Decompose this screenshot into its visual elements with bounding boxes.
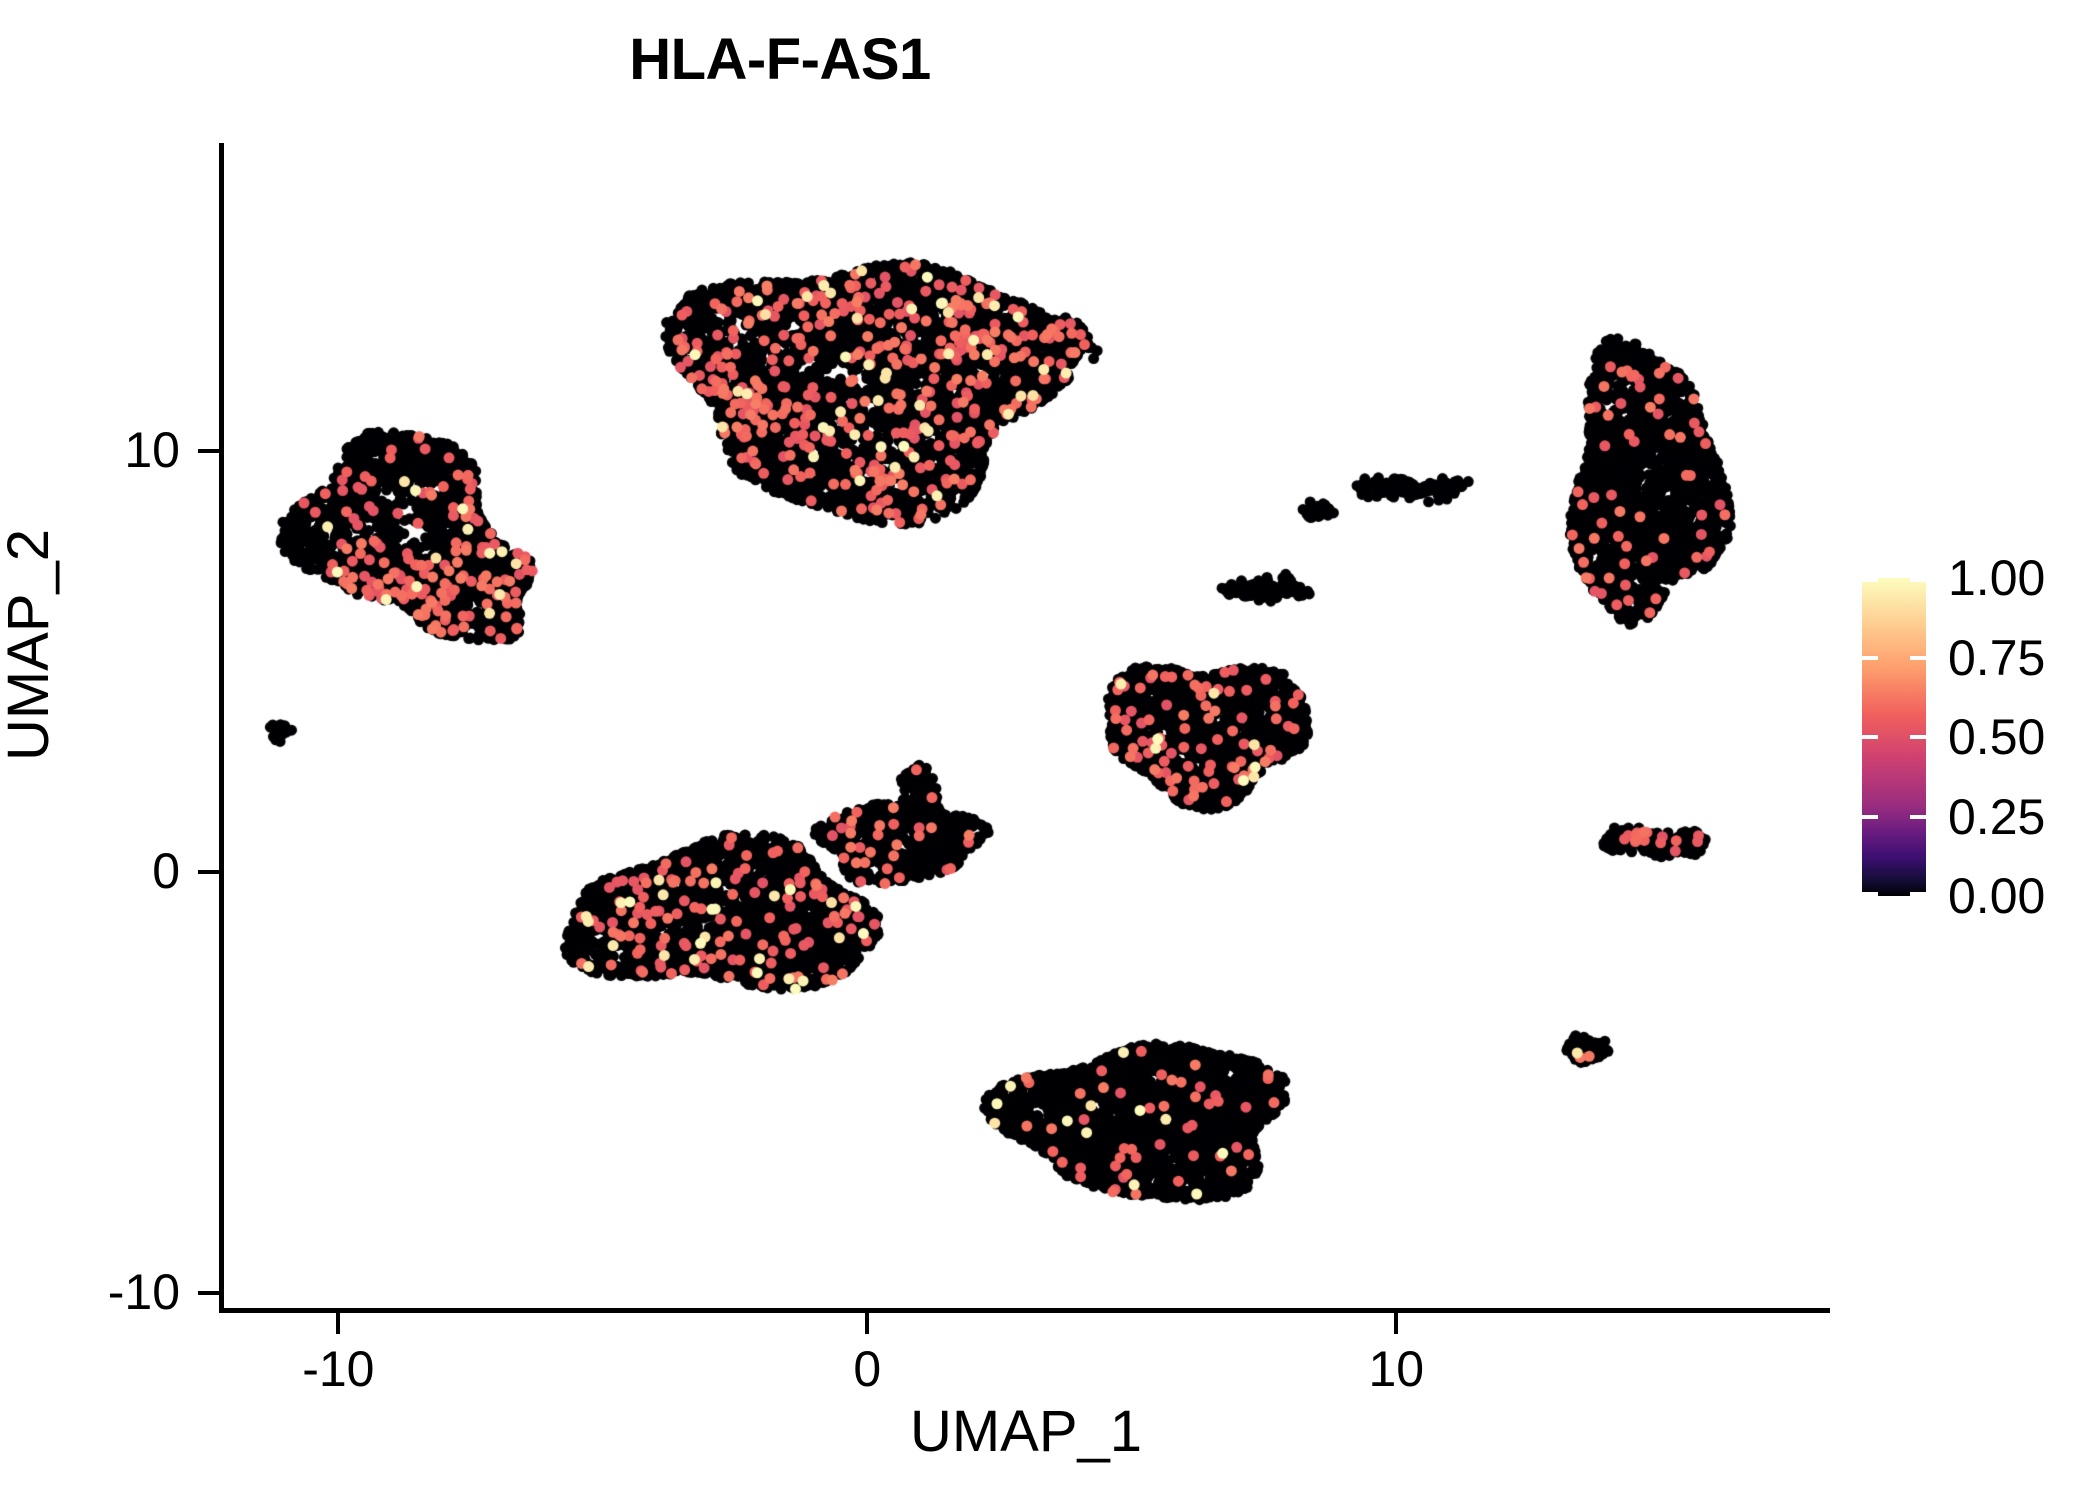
- colorbar-tick-mark: [1862, 815, 1926, 819]
- x-axis-line: [219, 1308, 1830, 1313]
- plot-panel: [222, 143, 1830, 1310]
- colorbar-legend: 1.000.750.500.250.00: [1862, 578, 2082, 918]
- colorbar-tick-label: 0.00: [1948, 871, 2100, 921]
- x-tick-mark: [865, 1313, 869, 1334]
- colorbar-tick-mark: [1862, 892, 1926, 896]
- x-tick-label: 0: [767, 1344, 967, 1394]
- colorbar-tick-label: 0.50: [1948, 712, 2100, 762]
- colorbar-tick-label: 0.25: [1948, 792, 2100, 842]
- y-tick-label: -10: [30, 1267, 180, 1317]
- x-axis-label: UMAP_1: [222, 1398, 1830, 1465]
- page-title: HLA-F-AS1: [0, 26, 1560, 93]
- x-tick-label: 10: [1296, 1344, 1496, 1394]
- y-axis-label: UMAP_2: [0, 385, 58, 905]
- x-tick-mark: [336, 1313, 340, 1334]
- x-tick-label: -10: [238, 1344, 438, 1394]
- colorbar-tick-label: 1.00: [1948, 553, 2100, 603]
- x-tick-mark: [1394, 1313, 1398, 1334]
- figure-root: HLA-F-AS1 -10010 -10010 UMAP_2 UMAP_1 1.…: [0, 0, 2100, 1500]
- colorbar-tick-label: 0.75: [1948, 633, 2100, 683]
- colorbar-tick-mark: [1862, 578, 1926, 582]
- y-tick-mark: [198, 1291, 219, 1295]
- colorbar-tick-mark: [1862, 735, 1926, 739]
- y-axis-label-wrap: UMAP_2: [0, 385, 90, 905]
- umap-scatter-canvas: [222, 143, 1830, 1310]
- colorbar-tick-mark: [1862, 656, 1926, 660]
- y-axis-line: [219, 143, 224, 1310]
- y-tick-mark: [198, 870, 219, 874]
- y-tick-mark: [198, 449, 219, 453]
